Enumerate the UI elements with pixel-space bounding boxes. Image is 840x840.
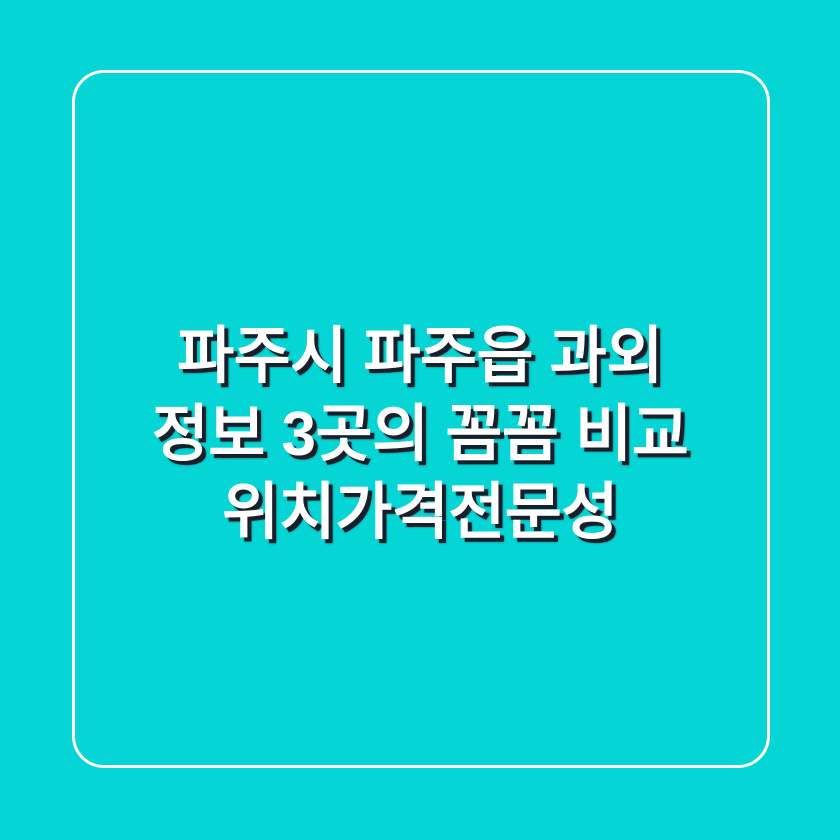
title-line-1: 파주시 파주읍 과외 bbox=[60, 318, 780, 396]
title-line-3: 위치가격전문성 bbox=[60, 474, 780, 552]
page-title: 파주시 파주읍 과외 정보 3곳의 꼼꼼 비교 위치가격전문성 bbox=[0, 318, 840, 552]
poster-canvas: 파주시 파주읍 과외 정보 3곳의 꼼꼼 비교 위치가격전문성 bbox=[0, 0, 840, 840]
title-line-2: 정보 3곳의 꼼꼼 비교 bbox=[60, 396, 780, 474]
